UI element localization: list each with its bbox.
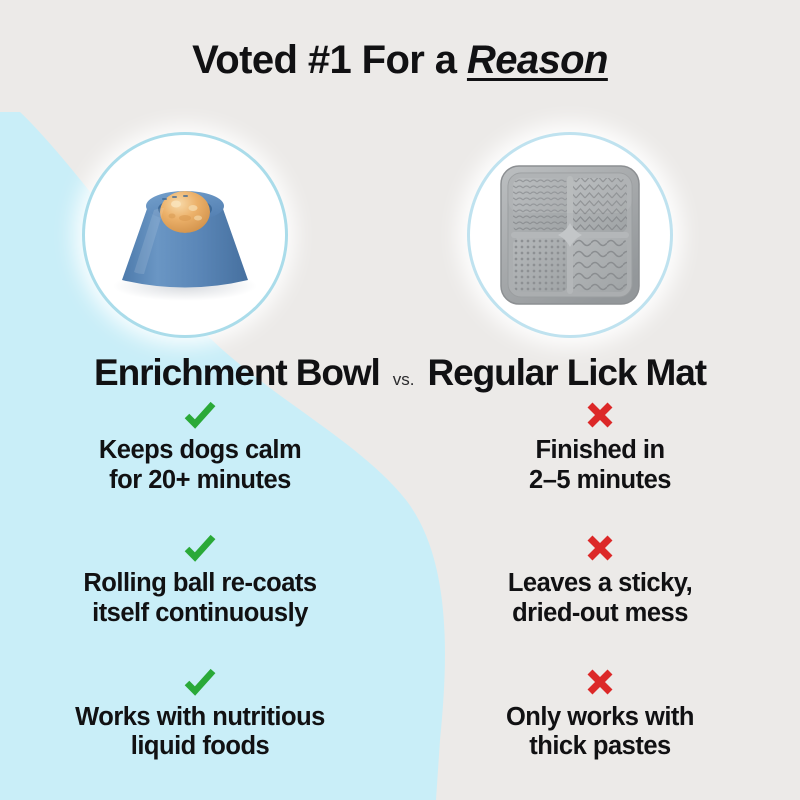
rolling-ball (160, 191, 210, 233)
lick-mat-quadrant-bottom-right (572, 237, 627, 292)
feature-text: Leaves a sticky, dried-out mess (508, 569, 692, 628)
enrichment-bowl-icon (90, 140, 280, 330)
check-icon (183, 531, 217, 565)
title-emphasis-text: Reason (467, 38, 608, 82)
title-container: Voted #1 For a Reason (0, 38, 800, 83)
comparison-grid: Keeps dogs calm for 20+ minutes Rolling … (0, 398, 800, 798)
comparison-column-left: Keeps dogs calm for 20+ minutes Rolling … (0, 398, 400, 798)
lick-mat-icon (495, 160, 645, 310)
feature-row: Leaves a sticky, dried-out mess (400, 531, 800, 664)
feature-row: Only works with thick pastes (400, 665, 800, 798)
feature-text: Rolling ball re-coats itself continuousl… (83, 569, 316, 628)
title-lead-text: Voted #1 For a (192, 38, 467, 82)
check-icon (183, 665, 217, 699)
feature-row: Keeps dogs calm for 20+ minutes (0, 398, 400, 531)
lick-mat-highlight (508, 173, 632, 213)
comparison-headers: Enrichment Bowl vs. Regular Lick Mat (0, 352, 800, 394)
feature-text: Keeps dogs calm for 20+ minutes (99, 436, 301, 495)
header-vs-label: vs. (393, 370, 415, 390)
feature-row: Finished in 2–5 minutes (400, 398, 800, 531)
cross-icon (585, 398, 615, 432)
feature-text: Only works with thick pastes (506, 703, 694, 762)
cross-icon (585, 531, 615, 565)
header-left-product: Enrichment Bowl (94, 352, 380, 394)
product-image-enrichment-bowl (85, 135, 285, 335)
feature-text: Works with nutritious liquid foods (75, 703, 325, 762)
feature-text: Finished in 2–5 minutes (529, 436, 671, 495)
feature-row: Rolling ball re-coats itself continuousl… (0, 531, 400, 664)
header-right-product: Regular Lick Mat (427, 352, 705, 394)
product-image-lick-mat (470, 135, 670, 335)
lick-mat-quadrant-bottom-left (513, 237, 568, 292)
cross-icon (585, 665, 615, 699)
comparison-column-right: Finished in 2–5 minutes Leaves a sticky,… (400, 398, 800, 798)
page-title: Voted #1 For a Reason (0, 38, 800, 83)
feature-row: Works with nutritious liquid foods (0, 665, 400, 798)
check-icon (183, 398, 217, 432)
